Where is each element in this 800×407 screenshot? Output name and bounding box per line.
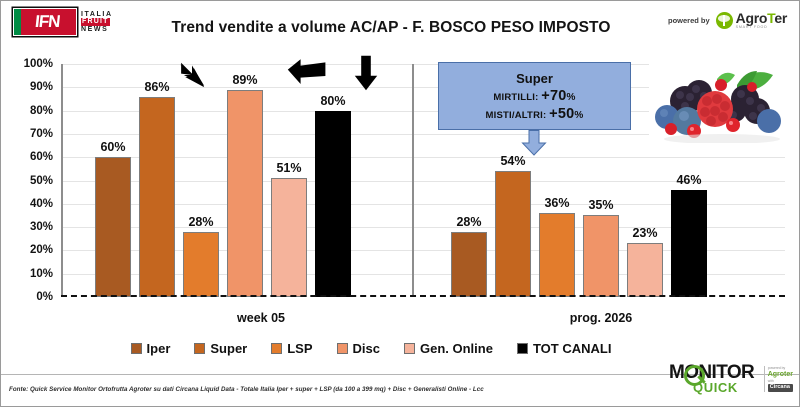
bar-super-prog-2026[interactable] bbox=[495, 171, 531, 297]
mq-with-label: with bbox=[768, 379, 793, 383]
legend-swatch bbox=[517, 343, 528, 354]
magnifier-icon bbox=[684, 365, 705, 386]
agroter-logo: AgroTer SMART FOOD bbox=[716, 11, 787, 29]
y-tick-label: 0% bbox=[1, 291, 53, 303]
bar-value-label: 46% bbox=[665, 173, 713, 187]
agroter-wordmark: AgroTer bbox=[736, 11, 787, 25]
annotation-arrow-down-icon bbox=[353, 55, 379, 91]
legend-item-gen-online[interactable]: Gen. Online bbox=[404, 341, 493, 356]
monitor-quick-credits: powered by Agroter with Circana bbox=[764, 366, 793, 391]
bar-super-week-05[interactable] bbox=[139, 97, 175, 297]
ifn-logo-words: ITALIA FRUIT NEWS bbox=[81, 11, 113, 33]
bar-value-label: 28% bbox=[445, 215, 493, 229]
bar-disc-prog-2026[interactable] bbox=[583, 215, 619, 297]
ifn-logo-mark: IFN bbox=[13, 8, 77, 36]
slide-canvas: IFN ITALIA FRUIT NEWS Trend vendite a vo… bbox=[0, 0, 800, 407]
y-axis-labels: 100%90%80%70%60%50%40%30%20%10%0% bbox=[1, 57, 56, 297]
powered-by-block: powered by AgroTer SMART FOOD bbox=[668, 11, 787, 29]
legend-label: Iper bbox=[147, 341, 171, 356]
bar-value-label: 35% bbox=[577, 198, 625, 212]
callout-pointer-arrow-icon bbox=[521, 130, 547, 156]
category-label-week-05: week 05 bbox=[201, 311, 321, 325]
legend-label: Disc bbox=[353, 341, 380, 356]
ifn-logo-line2: FRUIT bbox=[81, 18, 110, 25]
monitor-quick-logo: MONITOR QUICK powered by Agroter with Ci… bbox=[669, 358, 793, 400]
y-tick-label: 50% bbox=[1, 175, 53, 187]
mq-data-label: Circana bbox=[768, 384, 793, 391]
ifn-logo: IFN ITALIA FRUIT NEWS bbox=[13, 7, 121, 37]
bar-value-label: 54% bbox=[489, 154, 537, 168]
callout-row-misti: MISTI/ALTRI: +50% bbox=[486, 106, 584, 122]
y-tick-label: 10% bbox=[1, 268, 53, 280]
bar-value-label: 51% bbox=[265, 161, 313, 175]
legend-item-tot-canali[interactable]: TOT CANALI bbox=[517, 341, 611, 356]
callout-row-mirtilli: MIRTILLI: +70% bbox=[493, 88, 575, 104]
callout-row-misti-value: +50 bbox=[549, 106, 574, 122]
callout-row-mirtilli-label: MIRTILLI: bbox=[493, 92, 541, 103]
bar-lsp-week-05[interactable] bbox=[183, 232, 219, 297]
callout-super: Super MIRTILLI: +70% MISTI/ALTRI: +50% bbox=[438, 62, 631, 130]
callout-row-misti-unit: % bbox=[574, 110, 583, 121]
y-tick-label: 90% bbox=[1, 81, 53, 93]
y-tick-label: 60% bbox=[1, 151, 53, 163]
bar-tot-canali-week-05[interactable] bbox=[315, 111, 351, 297]
berries-image bbox=[649, 59, 795, 143]
bar-tot-canali-prog-2026[interactable] bbox=[671, 190, 707, 297]
bar-disc-week-05[interactable] bbox=[227, 90, 263, 297]
bar-value-label: 36% bbox=[533, 196, 581, 210]
bar-iper-week-05[interactable] bbox=[95, 157, 131, 297]
mq-partner-label: Agroter bbox=[768, 371, 793, 378]
agroter-word-b: er bbox=[774, 10, 787, 26]
bar-value-label: 80% bbox=[309, 94, 357, 108]
bar-value-label: 89% bbox=[221, 73, 269, 87]
y-tick-label: 40% bbox=[1, 198, 53, 210]
source-note: Fonte: Quick Service Monitor Ortofrutta … bbox=[9, 386, 484, 393]
ifn-logo-mark-text: IFN bbox=[29, 12, 60, 32]
legend-label: TOT CANALI bbox=[533, 341, 611, 356]
legend-label: LSP bbox=[287, 341, 312, 356]
legend-label: Super bbox=[210, 341, 247, 356]
legend-swatch bbox=[131, 343, 142, 354]
bar-gen-online-week-05[interactable] bbox=[271, 178, 307, 297]
bar-value-label: 23% bbox=[621, 226, 669, 240]
legend-swatch bbox=[271, 343, 282, 354]
category-label-prog-2026: prog. 2026 bbox=[531, 311, 671, 325]
y-tick-label: 80% bbox=[1, 105, 53, 117]
agroter-word-a: Agro bbox=[736, 10, 767, 26]
tree-icon bbox=[716, 12, 733, 29]
y-tick-label: 20% bbox=[1, 244, 53, 256]
y-tick-label: 100% bbox=[1, 58, 53, 70]
callout-row-mirtilli-unit: % bbox=[567, 92, 576, 103]
legend-item-lsp[interactable]: LSP bbox=[271, 341, 312, 356]
callout-title: Super bbox=[516, 71, 553, 86]
legend-item-disc[interactable]: Disc bbox=[337, 341, 380, 356]
legend-swatch bbox=[337, 343, 348, 354]
chart-legend: IperSuperLSPDiscGen. OnlineTOT CANALI bbox=[61, 341, 681, 356]
page-title: Trend vendite a volume AC/AP - F. BOSCO … bbox=[131, 19, 651, 37]
ifn-logo-line3: NEWS bbox=[81, 26, 113, 33]
y-tick-label: 30% bbox=[1, 221, 53, 233]
legend-label: Gen. Online bbox=[420, 341, 493, 356]
legend-item-iper[interactable]: Iper bbox=[131, 341, 171, 356]
callout-row-mirtilli-value: +70 bbox=[541, 88, 566, 104]
bar-lsp-prog-2026[interactable] bbox=[539, 213, 575, 297]
legend-item-super[interactable]: Super bbox=[194, 341, 247, 356]
monitor-quick-wordmark: MONITOR QUICK bbox=[669, 364, 761, 394]
y-tick-label: 70% bbox=[1, 128, 53, 140]
bar-gen-online-prog-2026[interactable] bbox=[627, 243, 663, 297]
ifn-logo-line1: ITALIA bbox=[81, 11, 113, 18]
legend-swatch bbox=[404, 343, 415, 354]
bar-value-label: 60% bbox=[89, 140, 137, 154]
bar-iper-prog-2026[interactable] bbox=[451, 232, 487, 297]
annotation-arrow-down-left-icon bbox=[175, 58, 209, 92]
bar-value-label: 28% bbox=[177, 215, 225, 229]
annotation-arrow-left-icon bbox=[287, 57, 327, 87]
legend-swatch bbox=[194, 343, 205, 354]
powered-by-label: powered by bbox=[668, 16, 710, 25]
mq-powered-label: powered by bbox=[768, 366, 793, 370]
bar-value-label: 86% bbox=[133, 80, 181, 94]
callout-row-misti-label: MISTI/ALTRI: bbox=[486, 110, 550, 121]
x-axis-line bbox=[61, 295, 785, 297]
